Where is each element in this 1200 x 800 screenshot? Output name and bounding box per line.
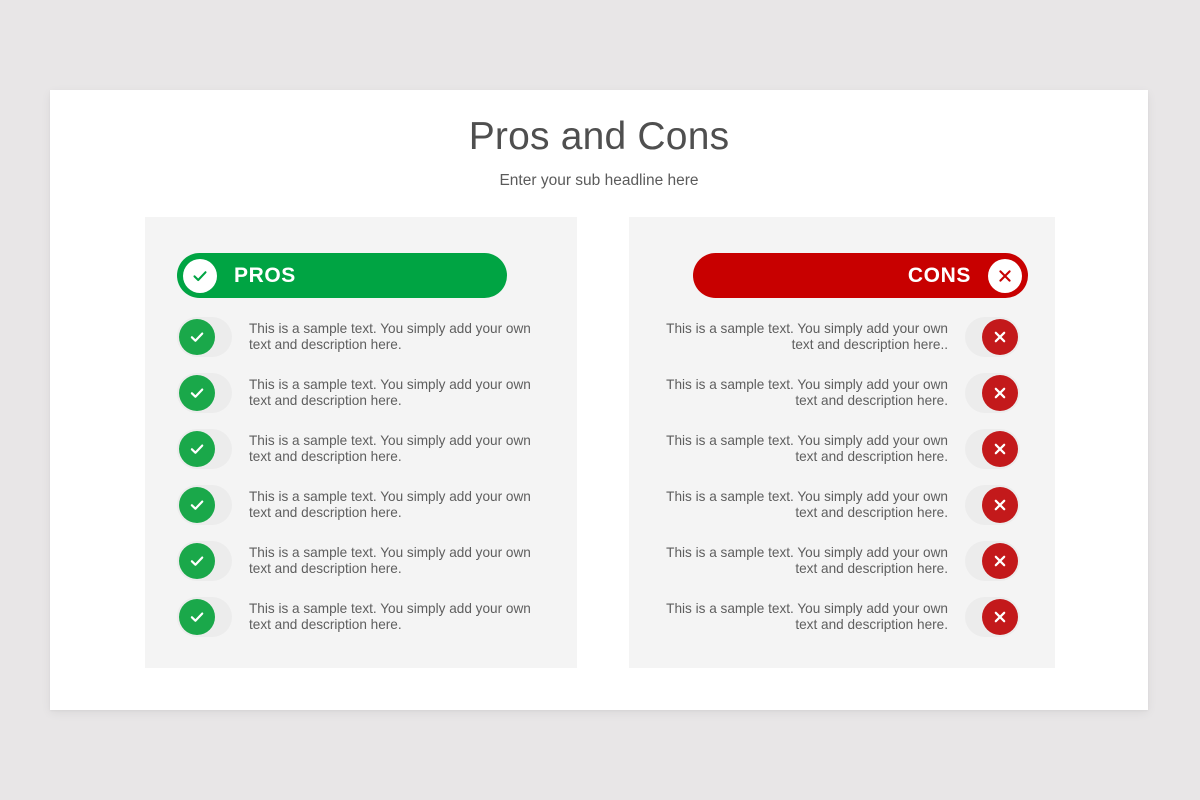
pros-panel: PROS This is a sample text. You simply a… <box>145 217 577 668</box>
pros-header-label: PROS <box>234 264 296 288</box>
pros-header-bar[interactable]: PROS <box>177 253 507 298</box>
icon-pill <box>965 541 1020 581</box>
list-item-text: This is a sample text. You simply add yo… <box>645 489 965 521</box>
icon-pill <box>177 485 232 525</box>
icon-pill <box>965 373 1020 413</box>
check-circle-icon <box>179 375 215 411</box>
icon-pill <box>177 597 232 637</box>
close-circle-icon <box>988 259 1022 293</box>
close-circle-icon <box>982 599 1018 635</box>
page-title: Pros and Cons <box>50 115 1148 159</box>
list-item[interactable]: This is a sample text. You simply add yo… <box>177 533 545 589</box>
list-item-text: This is a sample text. You simply add yo… <box>232 545 545 577</box>
list-item[interactable]: This is a sample text. You simply add yo… <box>645 309 1020 365</box>
list-item[interactable]: This is a sample text. You simply add yo… <box>645 421 1020 477</box>
check-circle-icon <box>183 259 217 293</box>
list-item-text: This is a sample text. You simply add yo… <box>645 601 965 633</box>
icon-pill <box>965 429 1020 469</box>
slide-canvas: Pros and Cons Enter your sub headline he… <box>0 0 1200 800</box>
cons-header-bar[interactable]: CONS <box>693 253 1028 298</box>
list-item[interactable]: This is a sample text. You simply add yo… <box>645 477 1020 533</box>
list-item-text: This is a sample text. You simply add yo… <box>232 433 545 465</box>
close-circle-icon <box>982 319 1018 355</box>
icon-pill <box>177 429 232 469</box>
check-circle-icon <box>179 319 215 355</box>
list-item[interactable]: This is a sample text. You simply add yo… <box>645 365 1020 421</box>
list-item-text: This is a sample text. You simply add yo… <box>645 545 965 577</box>
close-circle-icon <box>982 431 1018 467</box>
icon-pill <box>177 373 232 413</box>
page-subtitle: Enter your sub headline here <box>50 172 1148 190</box>
list-item-text: This is a sample text. You simply add yo… <box>232 321 545 353</box>
list-item-text: This is a sample text. You simply add yo… <box>645 433 965 465</box>
list-item[interactable]: This is a sample text. You simply add yo… <box>177 589 545 645</box>
check-circle-icon <box>179 543 215 579</box>
check-circle-icon <box>179 599 215 635</box>
cons-panel: CONS This is a sample text. You simply a… <box>629 217 1055 668</box>
list-item[interactable]: This is a sample text. You simply add yo… <box>645 589 1020 645</box>
list-item[interactable]: This is a sample text. You simply add yo… <box>177 477 545 533</box>
check-circle-icon <box>179 487 215 523</box>
list-item[interactable]: This is a sample text. You simply add yo… <box>645 533 1020 589</box>
slide-card: Pros and Cons Enter your sub headline he… <box>50 90 1148 710</box>
list-item[interactable]: This is a sample text. You simply add yo… <box>177 421 545 477</box>
icon-pill <box>177 317 232 357</box>
list-item[interactable]: This is a sample text. You simply add yo… <box>177 309 545 365</box>
list-item-text: This is a sample text. You simply add yo… <box>232 601 545 633</box>
close-circle-icon <box>982 375 1018 411</box>
icon-pill <box>965 485 1020 525</box>
list-item-text: This is a sample text. You simply add yo… <box>645 377 965 409</box>
close-circle-icon <box>982 543 1018 579</box>
list-item-text: This is a sample text. You simply add yo… <box>645 321 965 353</box>
list-item-text: This is a sample text. You simply add yo… <box>232 377 545 409</box>
cons-header-label: CONS <box>908 264 971 288</box>
close-circle-icon <box>982 487 1018 523</box>
check-circle-icon <box>179 431 215 467</box>
list-item-text: This is a sample text. You simply add yo… <box>232 489 545 521</box>
icon-pill <box>965 597 1020 637</box>
icon-pill <box>965 317 1020 357</box>
list-item[interactable]: This is a sample text. You simply add yo… <box>177 365 545 421</box>
icon-pill <box>177 541 232 581</box>
